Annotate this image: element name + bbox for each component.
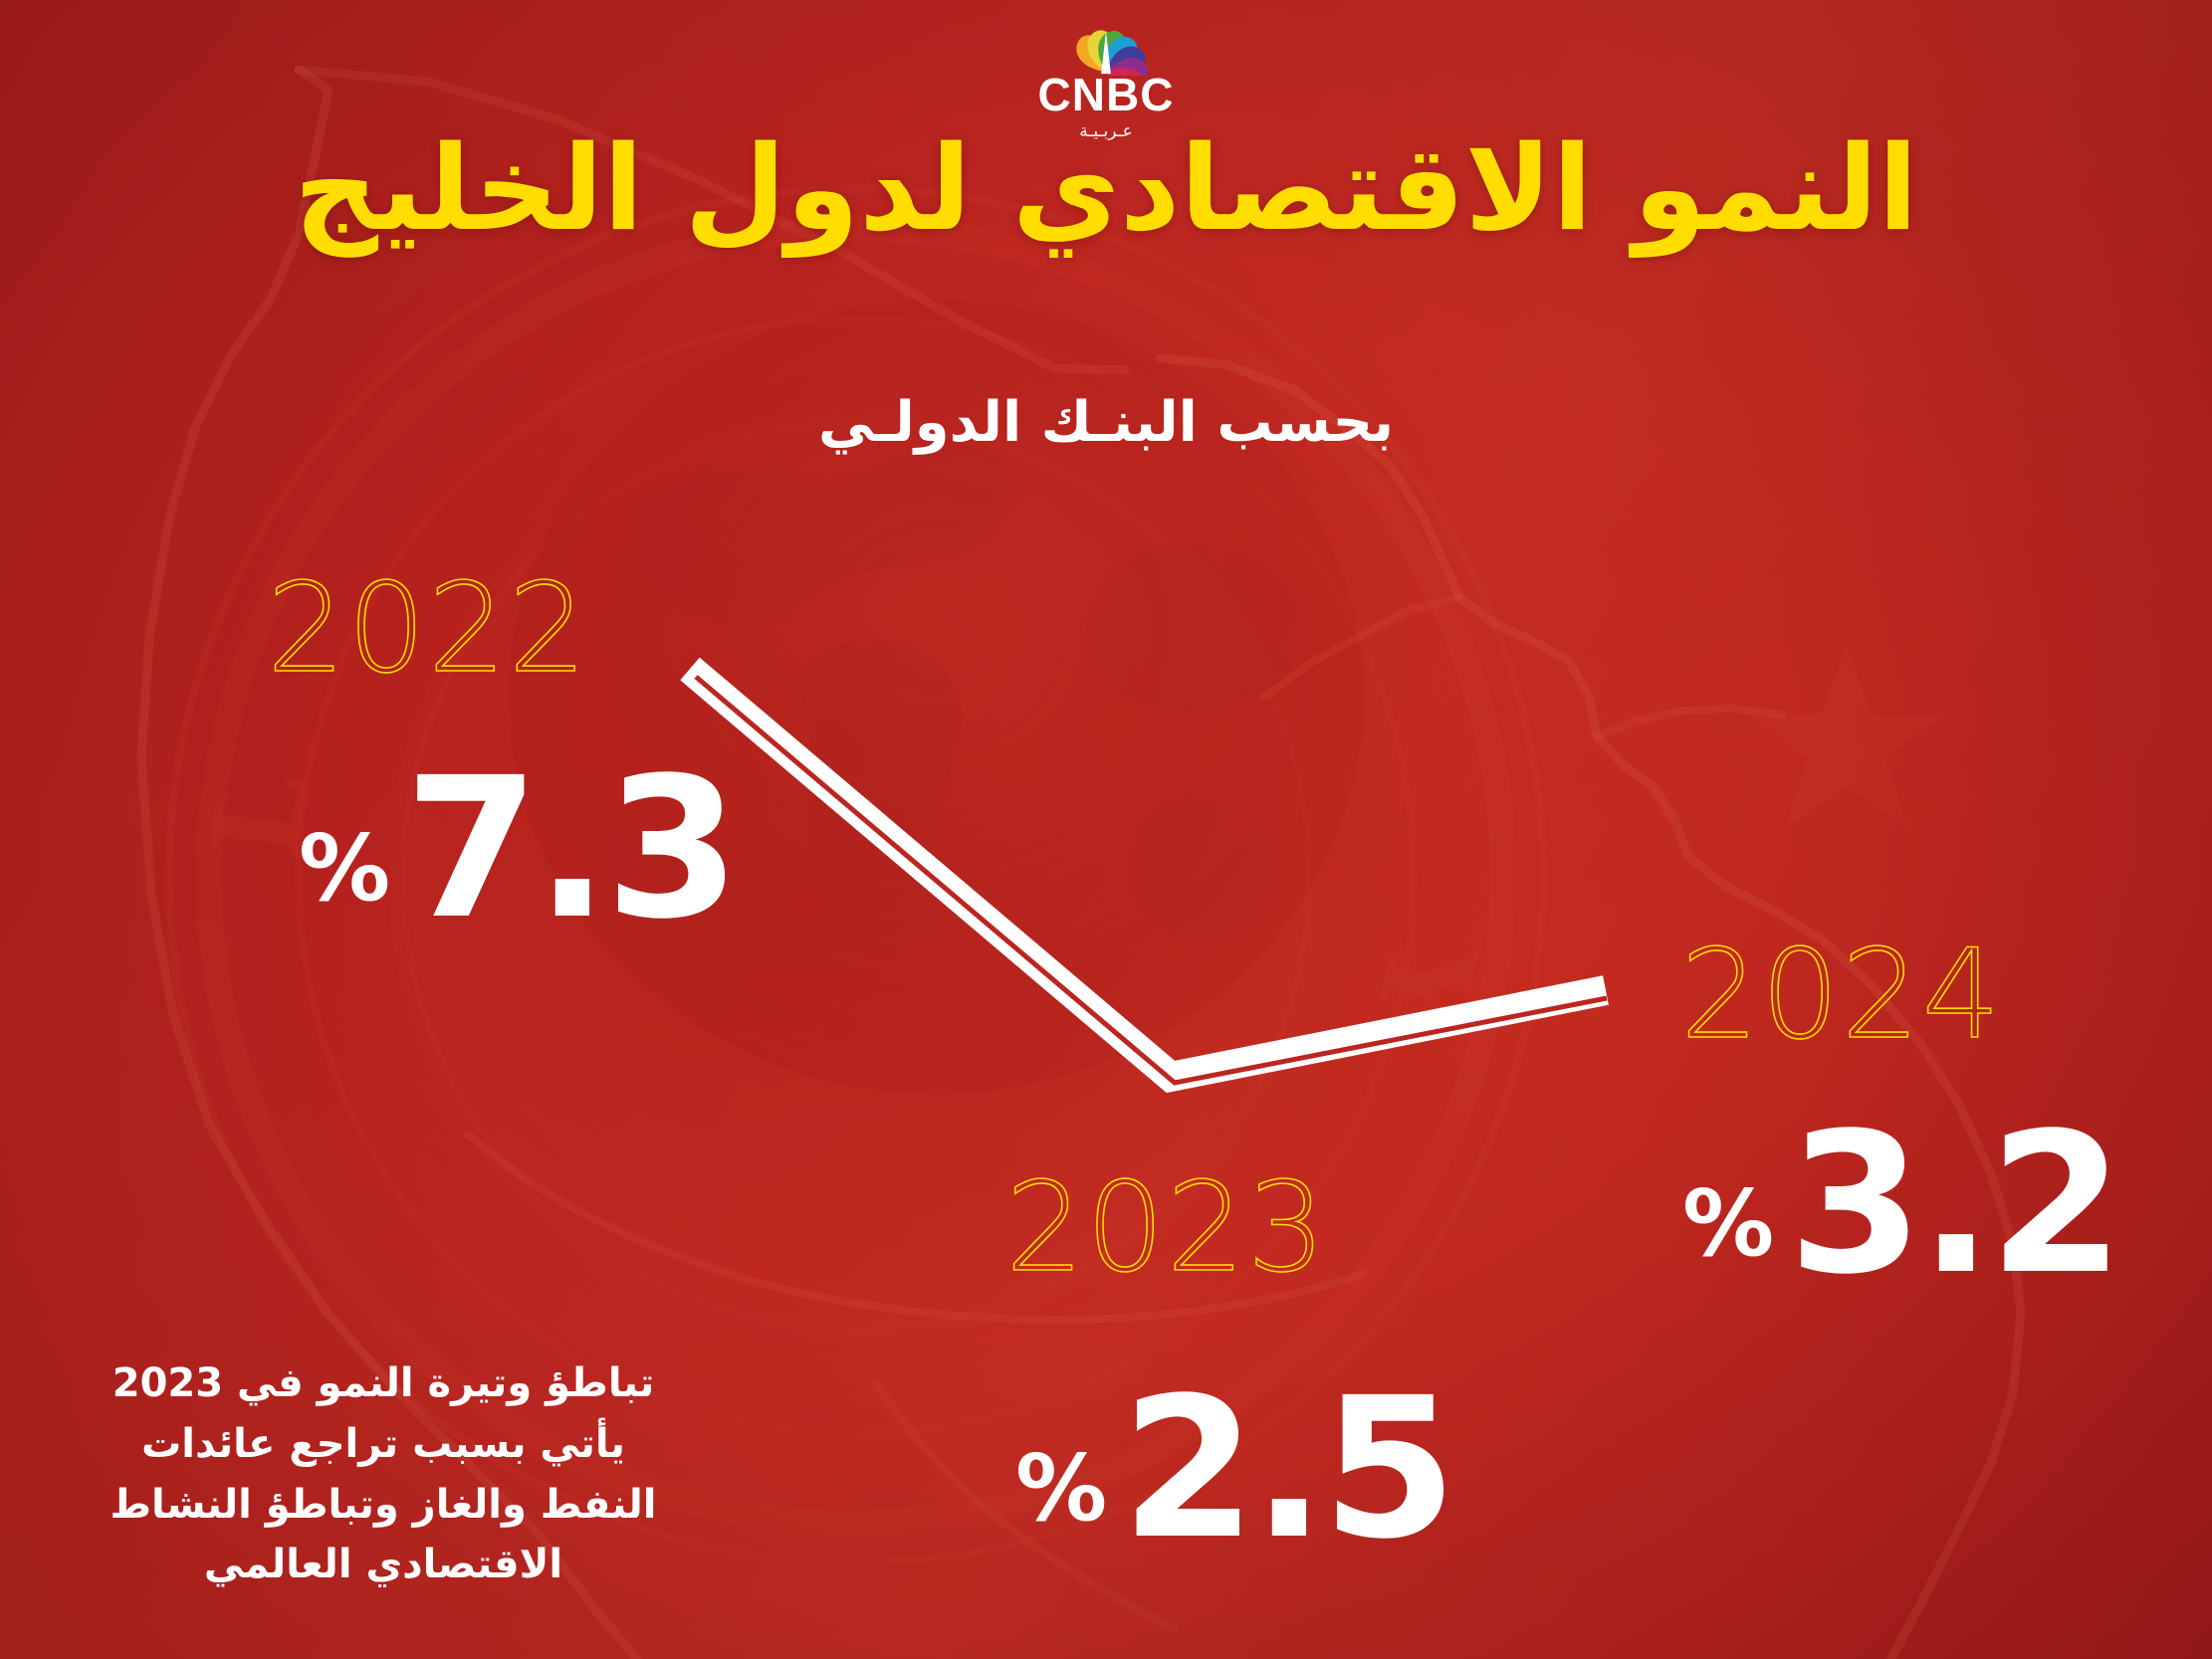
cnbc-arabic-wordmark: عـربـيـة: [1011, 121, 1201, 141]
percent-sign-2023: %: [1015, 1443, 1107, 1535]
cnbc-peacock-icon: [1047, 14, 1165, 76]
infographic-canvas: INTERNATIONAL MONETARY FUND: [0, 0, 2212, 1659]
value-2022: % 7.3: [299, 751, 737, 945]
page-subtitle: بحسب البنـك الدولـي: [0, 390, 2212, 455]
cnbc-arabia-logo: CNBC عـربـيـة: [1011, 14, 1201, 141]
value-2024: % 3.2: [1682, 1107, 2120, 1301]
cnbc-wordmark: CNBC: [1011, 74, 1201, 117]
seal-star-icon: [1749, 645, 1944, 829]
seal-text-fund: FUND: [0, 0, 66, 28]
caption-text: تباطؤ وتيرة النمو في 2023 يأتي بسبب تراج…: [90, 1353, 677, 1595]
value-number-2024: 3.2: [1788, 1107, 2119, 1301]
percent-sign-2022: %: [299, 823, 390, 915]
value-number-2023: 2.5: [1121, 1371, 1452, 1565]
year-label-2024: 2024: [1680, 933, 2003, 1057]
value-2023: % 2.5: [1015, 1371, 1453, 1565]
value-number-2022: 7.3: [404, 751, 736, 945]
page-title: النمو الاقتصادي لدول الخليج: [0, 129, 2212, 247]
year-label-2023: 2023: [1005, 1166, 1328, 1290]
percent-sign-2024: %: [1682, 1178, 1774, 1270]
year-label-2022: 2022: [267, 567, 589, 691]
